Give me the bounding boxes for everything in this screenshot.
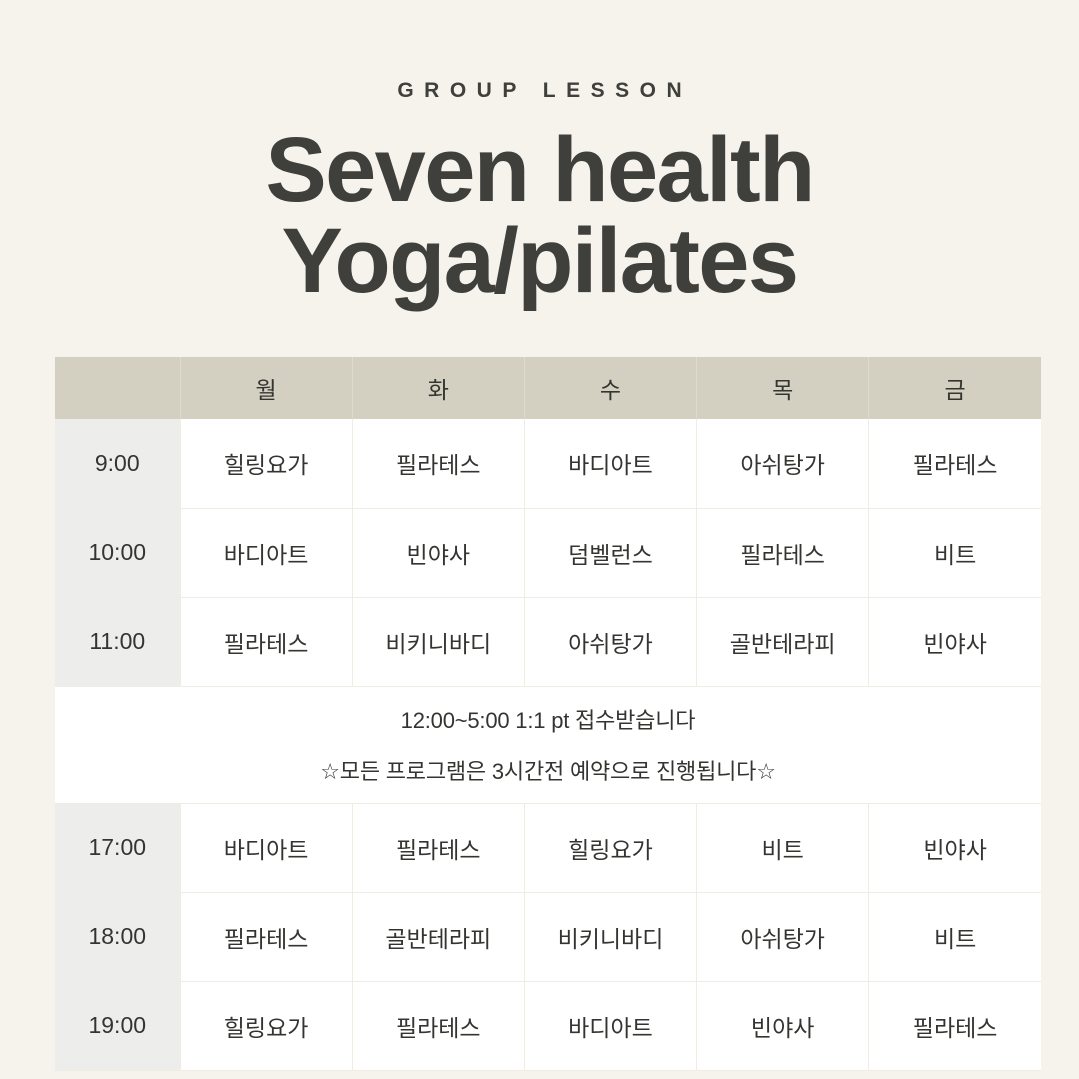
poster-root: GROUP LESSON Seven health Yoga/pilates 월…	[0, 0, 1079, 1079]
notice-line-2: ☆모든 프로그램은 3시간전 예약으로 진행됩니다☆	[320, 754, 776, 786]
class-cell: 힐링요가	[524, 803, 696, 892]
class-cell: 바디아트	[180, 803, 352, 892]
class-cell: 힐링요가	[180, 419, 352, 508]
class-cell: 덤벨런스	[524, 508, 696, 597]
class-cell: 빈야사	[697, 981, 869, 1070]
page-title: Seven health Yoga/pilates	[0, 125, 1079, 307]
class-cell: 비트	[697, 803, 869, 892]
day-header-wed: 수	[524, 357, 696, 419]
table-row: 11:00 필라테스 비키니바디 아쉬탕가 골반테라피 빈야사	[55, 597, 1041, 686]
time-label: 11:00	[55, 597, 180, 686]
day-header-row: 월 화 수 목 금	[55, 357, 1041, 419]
corner-cell	[55, 357, 180, 419]
class-cell: 비트	[869, 892, 1041, 981]
class-cell: 필라테스	[697, 508, 869, 597]
notice-row: 12:00~5:00 1:1 pt 접수받습니다 ☆모든 프로그램은 3시간전 …	[55, 686, 1041, 803]
class-cell: 필라테스	[352, 803, 524, 892]
class-cell: 바디아트	[524, 981, 696, 1070]
table-row: 18:00 필라테스 골반테라피 비키니바디 아쉬탕가 비트	[55, 892, 1041, 981]
class-cell: 빈야사	[869, 803, 1041, 892]
class-cell: 비키니바디	[524, 892, 696, 981]
class-cell: 아쉬탕가	[697, 419, 869, 508]
class-cell: 필라테스	[869, 419, 1041, 508]
notice-cell: 12:00~5:00 1:1 pt 접수받습니다 ☆모든 프로그램은 3시간전 …	[55, 686, 1041, 803]
day-header-thu: 목	[697, 357, 869, 419]
class-cell: 필라테스	[869, 981, 1041, 1070]
time-label: 10:00	[55, 508, 180, 597]
time-label: 18:00	[55, 892, 180, 981]
class-cell: 필라테스	[180, 892, 352, 981]
class-cell: 필라테스	[352, 419, 524, 508]
class-cell: 골반테라피	[697, 597, 869, 686]
title-line-2: Yoga/pilates	[0, 216, 1079, 307]
class-cell: 바디아트	[180, 508, 352, 597]
class-cell: 바디아트	[524, 419, 696, 508]
time-label: 19:00	[55, 981, 180, 1070]
notice-line-1: 12:00~5:00 1:1 pt 접수받습니다	[401, 703, 696, 735]
class-cell: 아쉬탕가	[697, 892, 869, 981]
table-row: 19:00 힐링요가 필라테스 바디아트 빈야사 필라테스	[55, 981, 1041, 1070]
day-header-fri: 금	[869, 357, 1041, 419]
schedule-table: 월 화 수 목 금 9:00 힐링요가 필라테스 바디아트 아쉬탕가 필라테스 …	[55, 357, 1041, 1071]
class-cell: 빈야사	[352, 508, 524, 597]
time-label: 17:00	[55, 803, 180, 892]
table-row: 17:00 바디아트 필라테스 힐링요가 비트 빈야사	[55, 803, 1041, 892]
schedule-table-body: 9:00 힐링요가 필라테스 바디아트 아쉬탕가 필라테스 10:00 바디아트…	[55, 419, 1041, 1070]
title-line-1: Seven health	[0, 125, 1079, 216]
day-header-tue: 화	[352, 357, 524, 419]
notice-block: 12:00~5:00 1:1 pt 접수받습니다 ☆모든 프로그램은 3시간전 …	[55, 687, 1041, 803]
table-row: 9:00 힐링요가 필라테스 바디아트 아쉬탕가 필라테스	[55, 419, 1041, 508]
poster-header: GROUP LESSON Seven health Yoga/pilates	[0, 0, 1079, 307]
class-cell: 힐링요가	[180, 981, 352, 1070]
class-cell: 필라테스	[352, 981, 524, 1070]
class-cell: 아쉬탕가	[524, 597, 696, 686]
table-row: 10:00 바디아트 빈야사 덤벨런스 필라테스 비트	[55, 508, 1041, 597]
class-cell: 골반테라피	[352, 892, 524, 981]
class-cell: 비키니바디	[352, 597, 524, 686]
class-cell: 비트	[869, 508, 1041, 597]
day-header-mon: 월	[180, 357, 352, 419]
class-cell: 빈야사	[869, 597, 1041, 686]
class-cell: 필라테스	[180, 597, 352, 686]
time-label: 9:00	[55, 419, 180, 508]
schedule-table-head: 월 화 수 목 금	[55, 357, 1041, 419]
eyebrow-label: GROUP LESSON	[0, 78, 1079, 103]
